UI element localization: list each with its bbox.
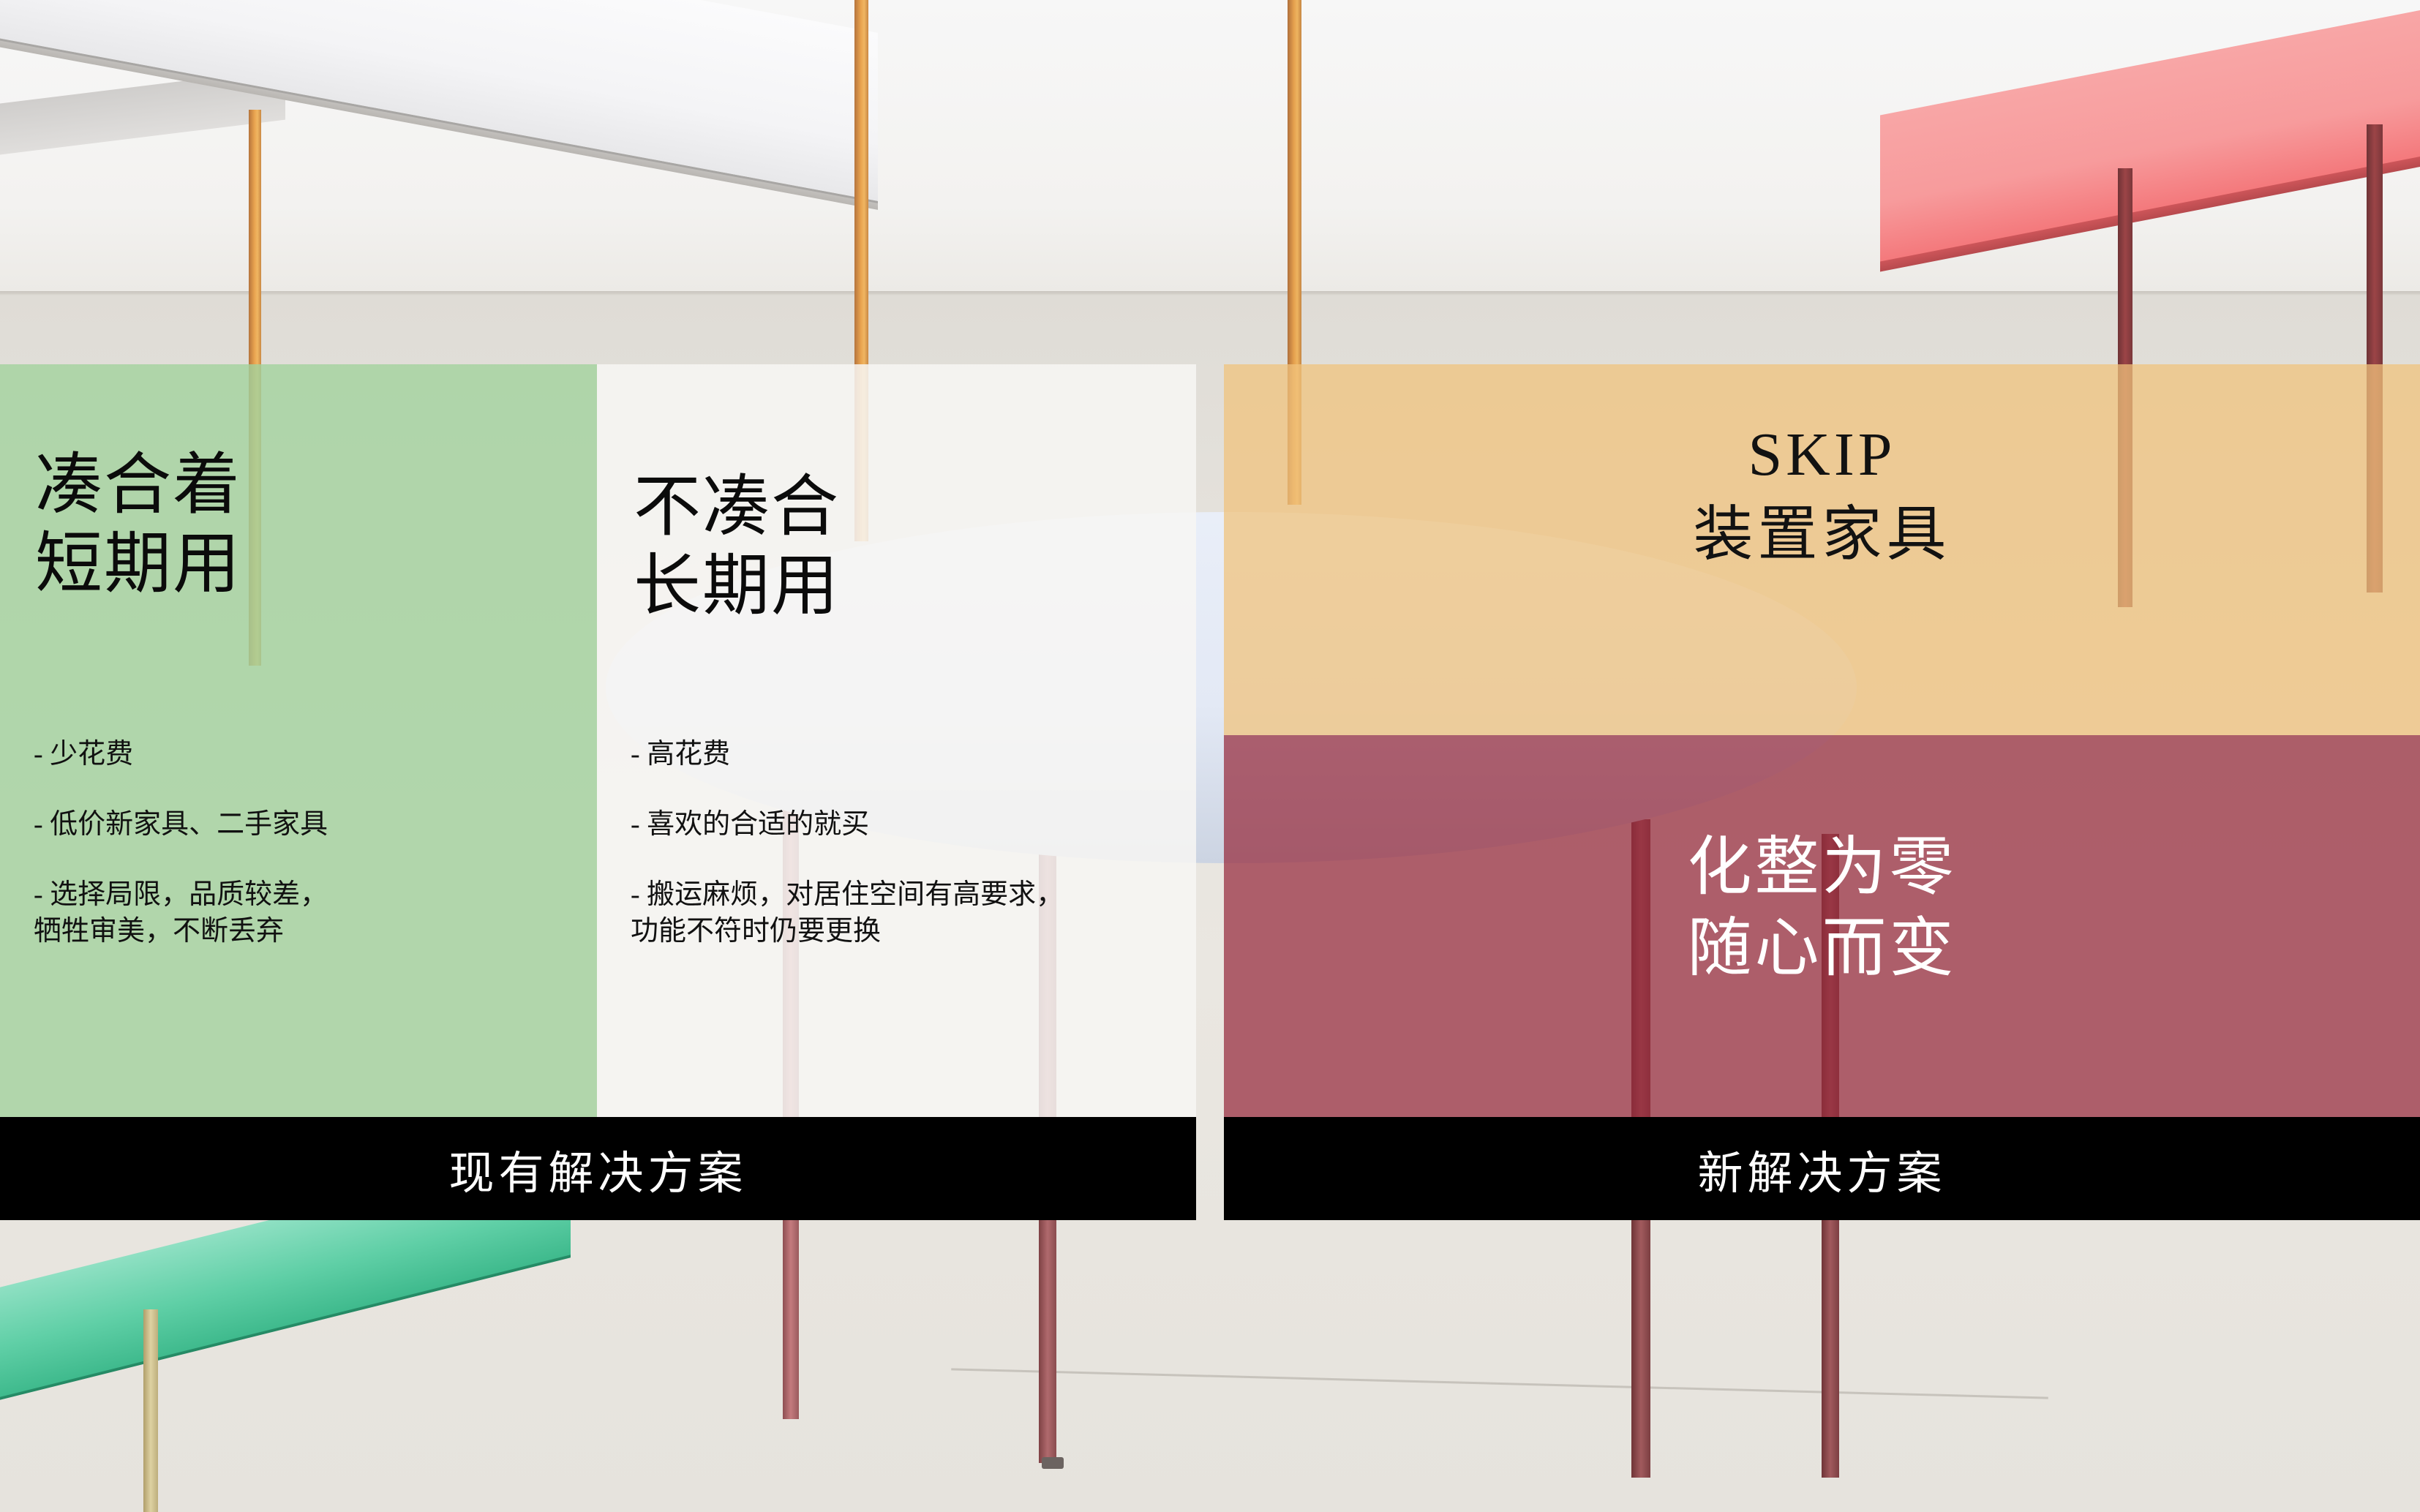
list-item: - 高花费 [631,736,1187,772]
brand-slogan: 化整为零 随心而变 [1224,827,2420,989]
option-a-heading: 凑合着 短期用 [35,446,241,603]
list-item: - 搬运麻烦，对居住空间有高要求， 功能不符时仍要更换 [631,876,1187,949]
list-item: - 少花费 [34,736,560,772]
list-item: - 低价新家具、二手家具 [34,806,560,843]
table-foot [1042,1457,1064,1469]
footer-label-new: 新解决方案 [1697,1136,1946,1202]
slide-canvas: 凑合着 短期用 - 少花费 - 低价新家具、二手家具 - 选择局限，品质较差， … [0,0,2420,1512]
wall-floor-seam [0,291,2420,296]
teal-table-leg [143,1309,158,1512]
brand-name-en: SKIP [1224,424,2420,486]
brand-block: SKIP 装置家具 [1224,424,2420,573]
footer-label-existing: 现有解决方案 [448,1136,747,1202]
option-b-bullet-list: - 高花费 - 喜欢的合适的就买 - 搬运麻烦，对居住空间有高要求， 功能不符时… [631,736,1187,950]
footer-bar-new: 新解决方案 [1224,1117,2420,1220]
footer-bar-existing: 现有解决方案 [0,1117,1196,1220]
option-b-heading: 不凑合 长期用 [634,468,840,625]
option-a-bullet-list: - 少花费 - 低价新家具、二手家具 - 选择局限，品质较差， 牺牲审美，不断丢… [34,736,560,950]
list-item: - 选择局限，品质较差， 牺牲审美，不断丢弃 [34,876,560,949]
brand-name-cn: 装置家具 [1224,497,2420,573]
list-item: - 喜欢的合适的就买 [631,806,1187,843]
